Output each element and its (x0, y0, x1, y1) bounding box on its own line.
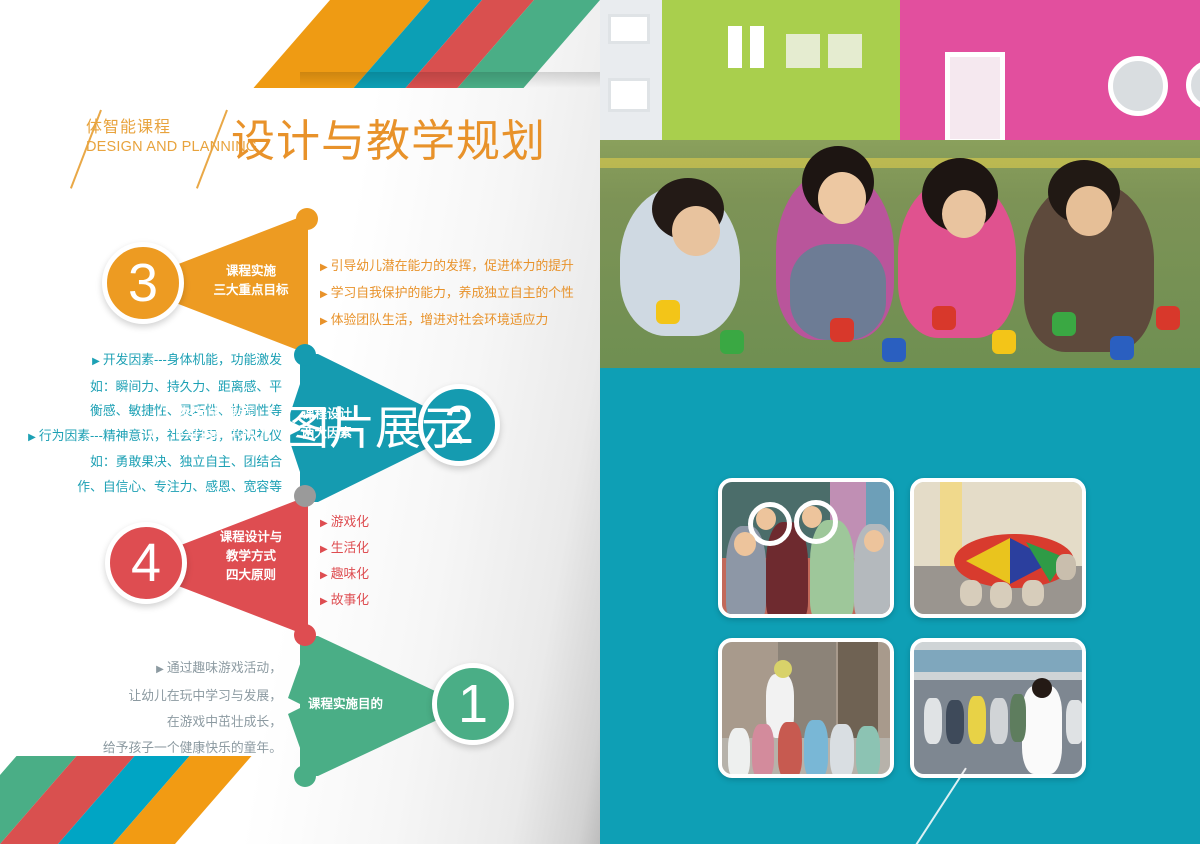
step-4-label-line-2: 教学方式 (196, 547, 306, 566)
p1-face-3 (802, 506, 822, 528)
hero-door (945, 52, 1005, 144)
p3-kid-6 (856, 726, 880, 778)
p2-child-c (1022, 580, 1044, 606)
step-3-bullet-3: ▶体验团队生活，增进对社会环境适应力 (320, 307, 574, 334)
hero-window-4 (750, 26, 764, 68)
flow-step-1: 1 课程实施目的 ▶通过趣味游戏活动， 让幼儿在玩中学习与发展， 在游戏中茁壮成… (0, 630, 600, 780)
bullet-marker-icon: ▶ (156, 664, 164, 675)
gallery-photo-2-content (914, 482, 1082, 614)
bullet-marker-icon: ▶ (320, 262, 328, 273)
step-4-label-line-1: 课程设计与 (196, 528, 306, 547)
p2-child-a (960, 580, 982, 606)
step-3-bullet-1: ▶引导幼儿潜在能力的发挥，促进体力的提升 (320, 253, 574, 280)
hero-child-1-face (672, 206, 720, 256)
brochure-spread: 体智能课程 DESIGN AND PLANNING 设计与教学规划 3 课程实施… (0, 0, 1200, 844)
right-heading-title: 图片展示 (283, 397, 467, 459)
ribbon-top-shadow (300, 72, 600, 88)
step-1-triangle-notch (284, 636, 310, 776)
step-1-bullet-1: ▶通过趣味游戏活动， (0, 655, 282, 683)
bullet-marker-icon: ▶ (320, 518, 328, 529)
bullet-marker-icon: ▶ (320, 570, 328, 581)
right-heading-cn-small: 体智能课程 (175, 404, 285, 424)
hero-window-3 (728, 26, 742, 68)
hero-round-window-1 (1108, 56, 1168, 116)
step-3-label: 课程实施 三大重点目标 (196, 262, 306, 300)
step-1-label-line-1: 课程实施目的 (308, 695, 408, 714)
ribbon-top-decoration (0, 0, 600, 88)
step-3-bullets: ▶引导幼儿潜在能力的发挥，促进体力的提升 ▶学习自我保护的能力，养成独立自主的个… (320, 253, 574, 334)
p1-face-2 (756, 508, 776, 530)
left-heading-cn-small: 体智能课程 (86, 118, 236, 138)
step-1-number: 1 (458, 677, 488, 731)
connector-dot-orange-top (296, 208, 318, 230)
p3-kid-3 (778, 722, 802, 778)
gallery-photo-1-content (722, 482, 890, 614)
p3-kid-1 (728, 728, 750, 778)
step-4-bullet-4: ▶故事化 (320, 588, 369, 614)
left-heading-title: 设计与教学规划 (231, 113, 546, 171)
bullet-marker-icon: ▶ (320, 596, 328, 607)
step-4-number-circle: 4 (105, 522, 187, 604)
hero-ground-stripe (600, 158, 1200, 168)
p4-kid-a (924, 698, 942, 744)
right-heading-en-small: EXHIBITION (175, 424, 285, 443)
connector-dot-green-bottom (294, 765, 316, 787)
p4-kid-b (946, 700, 964, 744)
step-4-bullet-1: ▶游戏化 (320, 510, 369, 536)
p4-teacher (1022, 686, 1062, 774)
step-1-bullet-3: 在游戏中茁壮成长， (0, 709, 282, 735)
step-4-number: 4 (131, 536, 161, 590)
gallery-photo-4[interactable] (910, 638, 1086, 778)
p3-kid-4 (804, 720, 828, 778)
hero-window-1 (608, 14, 650, 44)
hero-toy-gear-8 (1110, 336, 1134, 360)
gallery-photo-3[interactable] (718, 638, 894, 778)
step-3-bullet-2: ▶学习自我保护的能力，养成独立自主的个性 (320, 280, 574, 307)
gallery-photo-2[interactable] (910, 478, 1086, 618)
step-1-number-circle: 1 (432, 663, 514, 745)
step-3-number-circle: 3 (102, 242, 184, 324)
bullet-marker-icon: ▶ (320, 316, 328, 327)
bullet-marker-icon: ▶ (28, 432, 36, 443)
p4-kid-f (1066, 700, 1084, 744)
course-flow-diagram: 3 课程实施 三大重点目标 ▶引导幼儿潜在能力的发挥，促进体力的提升 ▶学习自我… (0, 200, 600, 800)
p2-child-b (990, 582, 1012, 608)
p4-kid-d (990, 698, 1008, 744)
step-1-bullet-4: 给予孩子一个健康快乐的童年。 (0, 735, 282, 761)
step-3-label-line-1: 课程实施 (196, 262, 306, 281)
hero-window-5 (786, 34, 820, 68)
hero-toy-gear-2 (720, 330, 744, 354)
connector-dot-teal (294, 344, 316, 366)
hero-toy-gear-9 (1156, 306, 1180, 330)
step-4-bullets: ▶游戏化 ▶生活化 ▶趣味化 ▶故事化 (320, 510, 369, 614)
right-page-heading: 体智能课程 EXHIBITION 图片展示 (155, 398, 575, 468)
right-heading-subtitle: 体智能课程 EXHIBITION (175, 404, 285, 443)
hero-toy-gear-6 (992, 330, 1016, 354)
p4-kid-c (968, 696, 986, 744)
bullet-marker-icon: ▶ (320, 289, 328, 300)
hero-toy-gear-1 (656, 300, 680, 324)
left-heading-subtitle: 体智能课程 DESIGN AND PLANNING (86, 118, 236, 157)
gallery-photo-4-content (914, 642, 1082, 774)
p3-ball (774, 660, 792, 678)
exhibition-gallery (718, 478, 1086, 778)
gallery-photo-3-content (722, 642, 890, 774)
gallery-photo-1[interactable] (718, 478, 894, 618)
p4-window-band (914, 650, 1086, 672)
hero-child-3-face (942, 190, 986, 238)
step-3-label-line-2: 三大重点目标 (196, 281, 306, 300)
hero-toy-gear-4 (882, 338, 906, 362)
step-4-bullet-2: ▶生活化 (320, 536, 369, 562)
p1-face-1 (734, 532, 756, 556)
step-2-bullet-1: ▶开发因素---身体机能，功能激发 (0, 348, 282, 375)
left-heading-en-small: DESIGN AND PLANNING (86, 138, 236, 157)
hero-toy-gear-5 (932, 306, 956, 330)
p4-teacher-head (1032, 678, 1052, 698)
p1-face-4 (864, 530, 884, 552)
connector-dot-gray (294, 485, 316, 507)
step-1-bullets: ▶通过趣味游戏活动， 让幼儿在玩中学习与发展， 在游戏中茁壮成长， 给予孩子一个… (0, 655, 282, 761)
p3-kid-2 (752, 724, 774, 778)
left-page-heading: 体智能课程 DESIGN AND PLANNING 设计与教学规划 (46, 108, 586, 194)
step-1-bullet-2: 让幼儿在玩中学习与发展， (0, 683, 282, 709)
hero-toy-gear-7 (1052, 312, 1076, 336)
p3-kid-5 (830, 724, 854, 778)
step-4-label-line-3: 四大原则 (196, 566, 306, 585)
step-4-bullet-3: ▶趣味化 (320, 562, 369, 588)
hero-window-6 (828, 34, 862, 68)
hero-child-4-face (1066, 186, 1112, 236)
step-4-label: 课程设计与 教学方式 四大原则 (196, 528, 306, 585)
step-1-label: 课程实施目的 (308, 695, 408, 714)
p4-kid-e (1010, 694, 1026, 742)
flow-step-4: 4 课程设计与 教学方式 四大原则 ▶游戏化 ▶生活化 ▶趣味化 ▶故事化 (0, 490, 600, 630)
p2-child-d (1056, 554, 1076, 580)
hero-photo (600, 0, 1200, 368)
bullet-marker-icon: ▶ (320, 544, 328, 555)
step-2-bullet-2: 如：瞬间力、持久力、距离感、平 (0, 375, 282, 400)
step-3-number: 3 (128, 256, 158, 310)
connector-dot-red (294, 624, 316, 646)
bullet-marker-icon: ▶ (92, 356, 100, 367)
hero-toy-gear-3 (830, 318, 854, 342)
hero-child-2-face (818, 172, 866, 224)
hero-window-2 (608, 78, 650, 112)
